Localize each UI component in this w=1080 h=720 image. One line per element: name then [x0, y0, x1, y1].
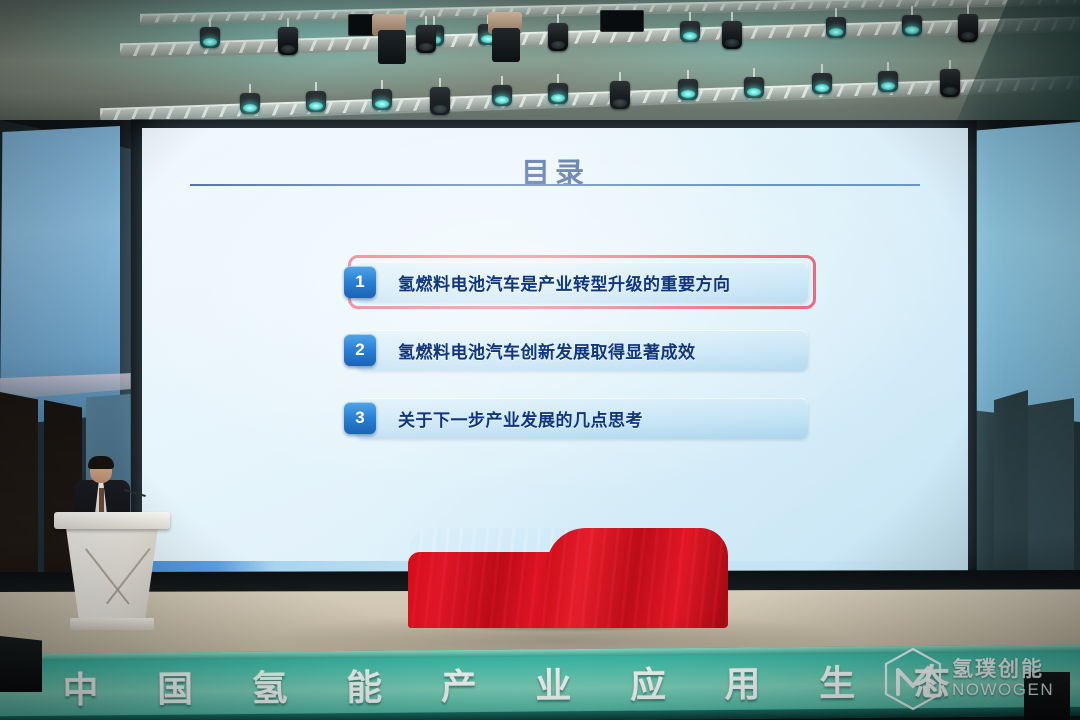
toc-item-label: 氢燃料电池汽车是产业转型升级的重要方向 [398, 270, 731, 295]
toc-item-number-badge: 2 [344, 334, 376, 366]
red-cloth-covered-vehicle [408, 528, 728, 628]
presenter-hair [88, 456, 114, 469]
projection-screen: 目录 1 氢燃料电池汽车是产业转型升级的重要方向 2 氢燃料电池汽车创新发展取得… [142, 128, 968, 575]
stage-light-icon [678, 70, 698, 100]
stage-light-icon [680, 12, 700, 42]
stage-light-icon [548, 14, 568, 51]
stage-light-icon [610, 72, 630, 109]
list-item[interactable]: 1 氢燃料电池汽车是产业转型升级的重要方向 [338, 260, 808, 304]
stage-light-icon [940, 60, 960, 97]
ceiling [0, 0, 1080, 132]
toc-item-number-badge: 3 [344, 402, 376, 434]
stage-light-icon [416, 16, 436, 53]
stage-light-icon [372, 80, 392, 110]
watermark-text: 氢璞创能 NOWOGEN [952, 659, 1054, 699]
stage-light-icon [744, 68, 764, 98]
watermark: 氢璞创能 NOWOGEN [880, 638, 1080, 720]
stage-light-icon [722, 12, 742, 49]
podium [58, 512, 166, 634]
box-fixture [378, 30, 406, 64]
podium-body [66, 528, 158, 620]
toc-item-label: 关于下一步产业发展的几点思考 [398, 406, 643, 431]
speaker-cabinet [0, 636, 42, 692]
conference-stage-photo: 目录 1 氢燃料电池汽车是产业转型升级的重要方向 2 氢燃料电池汽车创新发展取得… [0, 0, 1080, 720]
stage-light-icon [902, 6, 922, 36]
box-fixture [492, 28, 520, 62]
stage-light-icon [492, 76, 512, 106]
hexagon-n-logo-icon [880, 646, 946, 712]
watermark-chinese: 氢璞创能 [952, 659, 1054, 681]
stage-light-icon [958, 5, 978, 42]
stage-light-icon [430, 78, 450, 115]
podium-cross-detail [106, 548, 150, 604]
podium-desktop [54, 512, 170, 529]
right-wall-lit-panel [970, 122, 1080, 422]
stage-light-icon [306, 82, 326, 112]
stage-light-icon [826, 8, 846, 38]
stage-light-icon [878, 62, 898, 92]
podium-cross-detail [85, 548, 129, 604]
stage-light-icon [812, 64, 832, 94]
watermark-english: NOWOGEN [952, 681, 1054, 699]
table-of-contents: 1 氢燃料电池汽车是产业转型升级的重要方向 2 氢燃料电池汽车创新发展取得显著成… [338, 260, 808, 464]
list-item[interactable]: 2 氢燃料电池汽车创新发展取得显著成效 [338, 328, 808, 372]
stage-light-icon [278, 18, 298, 55]
title-divider [190, 184, 920, 186]
toc-item-label: 氢燃料电池汽车创新发展取得显著成效 [398, 338, 696, 363]
stage-light-icon [200, 18, 220, 48]
venue-banner-text: 中 国 氢 能 产 业 应 用 生 态 [62, 654, 960, 714]
cloth-fold-texture [408, 528, 728, 628]
stage-light-icon [240, 84, 260, 114]
ceiling-monitor [600, 10, 644, 32]
list-item[interactable]: 3 关于下一步产业发展的几点思考 [338, 396, 808, 440]
toc-item-number-badge: 1 [344, 266, 376, 298]
podium-base [70, 618, 154, 630]
stage-light-icon [548, 74, 568, 104]
presenter-tie [99, 488, 104, 514]
